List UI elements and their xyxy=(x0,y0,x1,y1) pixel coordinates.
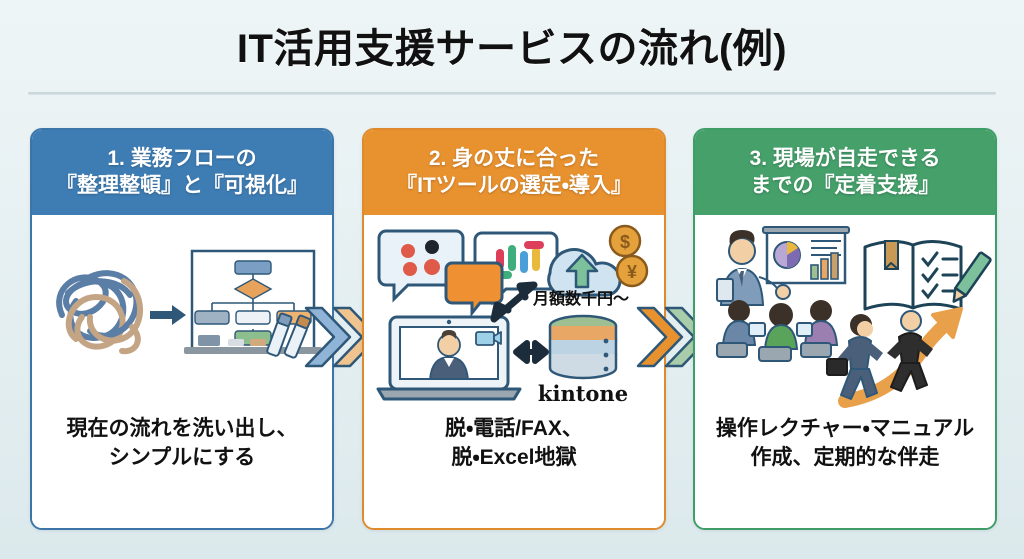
training-support-icon xyxy=(695,219,995,409)
cloud-price-label: 月額数千円〜 xyxy=(532,289,629,308)
step-panel-3[interactable]: 3. 現場が自走できる までの『定着支援』 xyxy=(693,128,997,530)
step-2-caption: 脱・電話/FAX、 脱・Excel地獄 xyxy=(364,415,664,473)
step-3-header-line2: までの『定着支援』 xyxy=(751,173,940,199)
arrow-horizontal-icon xyxy=(516,343,546,361)
step-2-header: 2. 身の丈に合った 『ITツールの選定・導入』 xyxy=(364,130,664,215)
step-panel-1[interactable]: 1. 業務フローの 『整理整頓』と『可視化』 xyxy=(30,128,334,530)
laptop-video-call-icon xyxy=(378,317,520,399)
database-icon xyxy=(550,316,616,378)
step-1-caption: 現在の流れを洗い出し、 シンプルにする xyxy=(32,415,332,473)
step-1-header: 1. 業務フローの 『整理整頓』と『可視化』 xyxy=(32,130,332,215)
step-3-caption-line2: 作成、定期的な伴走 xyxy=(695,444,995,473)
database-label: kintone xyxy=(538,381,628,406)
step-2-caption-line1: 脱・電話/FAX、 xyxy=(364,415,664,444)
page-title: IT活用支援サービスの流れ(例) xyxy=(0,16,1024,74)
tangled-knot-to-flowchart-icon xyxy=(32,219,332,409)
coin-yen-icon: ¥ xyxy=(617,256,647,286)
step-2-header-line2: 『ITツールの選定・導入』 xyxy=(396,173,632,199)
running-businessman-1-icon xyxy=(827,314,883,399)
step-1-caption-line2: シンプルにする xyxy=(32,444,332,473)
manual-book-icon xyxy=(865,241,991,309)
step-2-header-line1: 2. 身の丈に合った xyxy=(429,146,599,172)
step-2-body: $ ¥ xyxy=(364,215,664,528)
step-1-body: 現在の流れを洗い出し、 シンプルにする xyxy=(32,215,332,528)
step-panel-2[interactable]: 2. 身の丈に合った 『ITツールの選定・導入』 xyxy=(362,128,666,530)
step-1-header-line1: 1. 業務フローの xyxy=(107,146,256,172)
running-businessman-2-icon xyxy=(887,311,933,391)
step-3-header: 3. 現場が自走できる までの『定着支援』 xyxy=(695,130,995,215)
coin-dollar-icon: $ xyxy=(610,226,640,256)
it-tools-icon: $ ¥ xyxy=(364,219,664,409)
step-1-caption-line1: 現在の流れを洗い出し、 xyxy=(32,415,332,444)
step-3-caption: 操作レクチャー・マニュアル 作成、定期的な伴走 xyxy=(695,415,995,473)
step-3-caption-line1: 操作レクチャー・マニュアル xyxy=(695,415,995,444)
title-divider xyxy=(28,92,996,95)
svg-text:¥: ¥ xyxy=(627,262,637,282)
audience-icon xyxy=(717,300,837,361)
step-2-caption-line2: 脱・Excel地獄 xyxy=(364,444,664,473)
presentation-board-icon xyxy=(763,227,849,283)
step-1-header-line2: 『整理整頓』と『可視化』 xyxy=(56,173,308,199)
cloud-upload-icon xyxy=(549,250,620,295)
arrow-right-icon xyxy=(150,305,186,325)
svg-text:$: $ xyxy=(620,232,630,252)
step-3-header-line1: 3. 現場が自走できる xyxy=(750,146,941,172)
step-3-body: 操作レクチャー・マニュアル 作成、定期的な伴走 xyxy=(695,215,995,528)
infographic-page: IT活用支援サービスの流れ(例) 1. 業務フローの 『整理整頓』と『可視化』 xyxy=(0,0,1024,559)
